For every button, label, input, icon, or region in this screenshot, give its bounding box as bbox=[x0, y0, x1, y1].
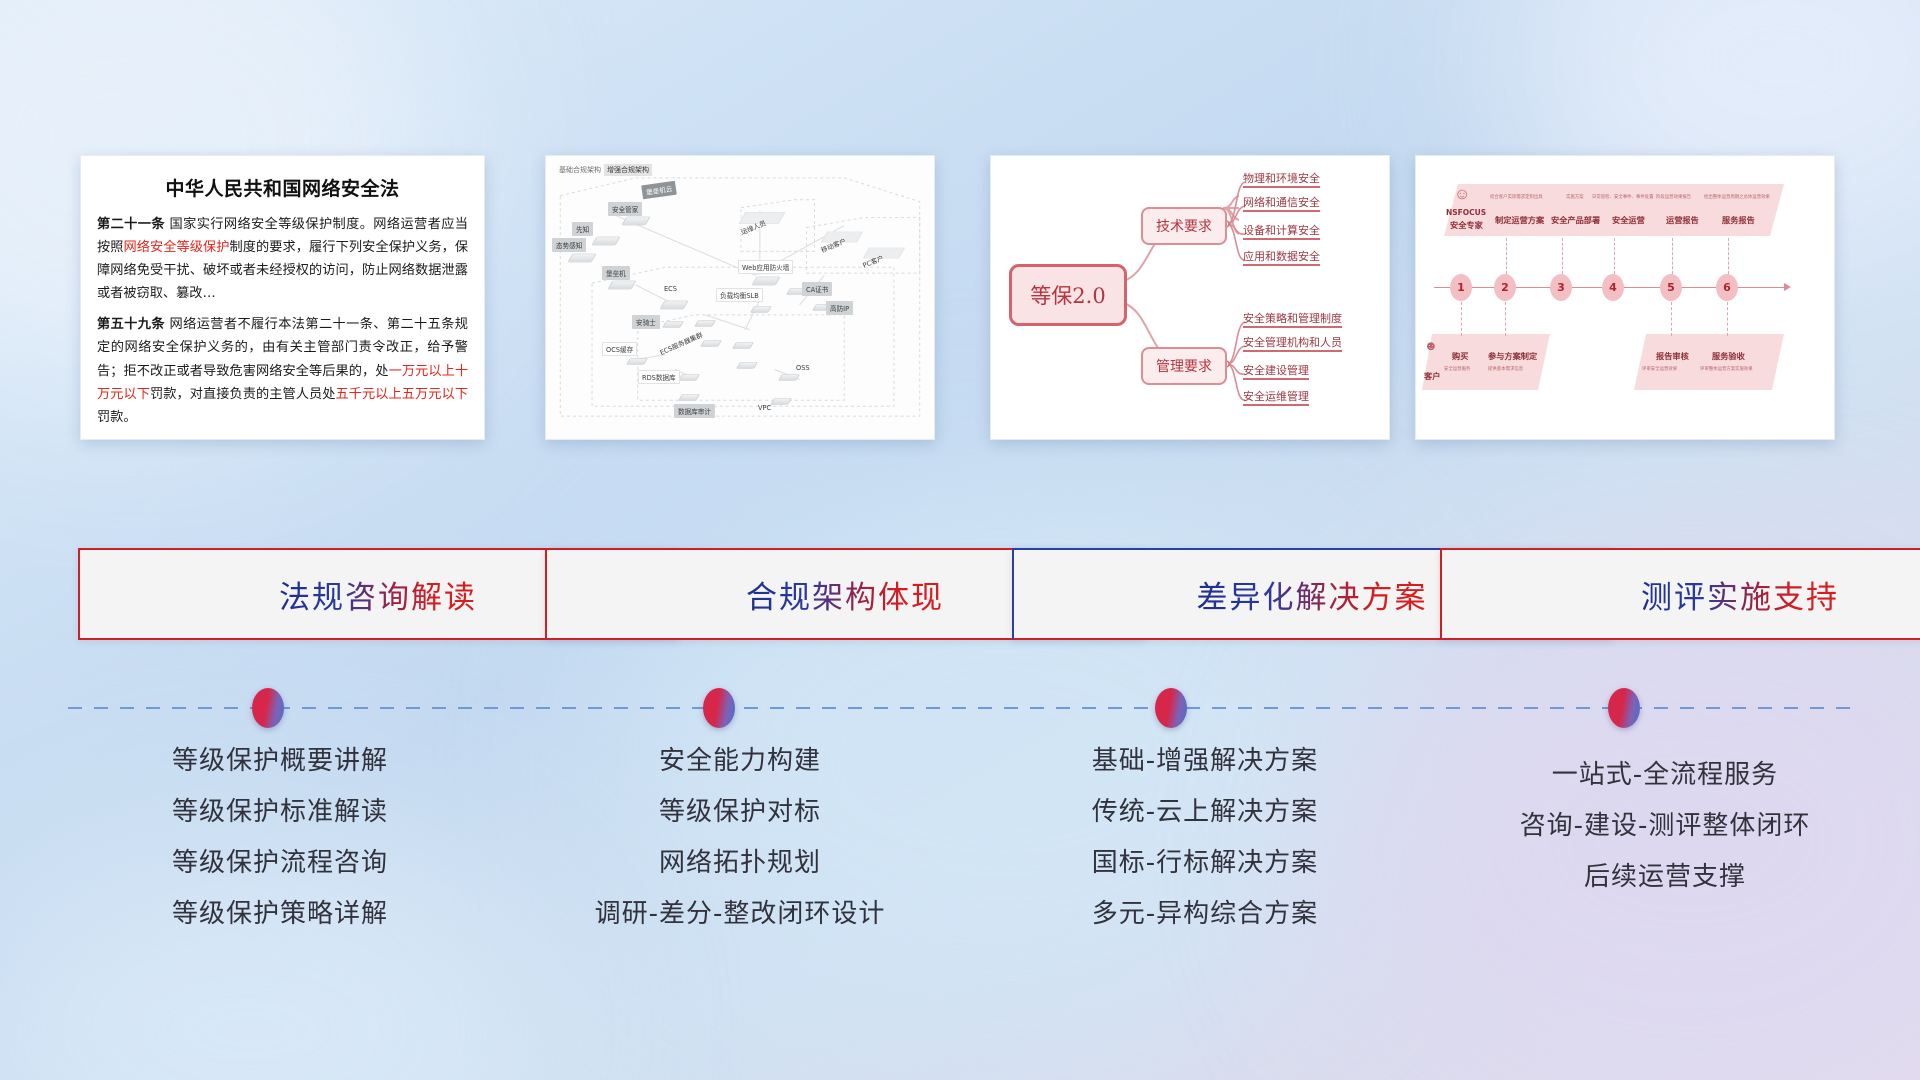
heading-label-1: 法规咨询解读 bbox=[279, 572, 477, 617]
mindmap-leaf-tech-4: 应用和数据安全 bbox=[1243, 248, 1320, 266]
timeline-step-node-6[interactable]: 6 bbox=[1716, 274, 1738, 301]
heading-label-2: 合规架构体现 bbox=[746, 572, 944, 617]
detail-column-4: 一站式-全流程服务 咨询-建设-测评整体闭环 后续运营支撑 bbox=[1415, 748, 1915, 915]
detail-column-2: 安全能力构建 等级保护对标 网络拓扑规划 调研-差分-整改闭环设计 bbox=[500, 748, 980, 952]
customer-step-1-sub: 安全运营服务 bbox=[1444, 366, 1470, 372]
timeline-canvas: ☺ NSFOCUS 安全专家 结合客户实际需求定制出具 制定运营方案 实施方案 … bbox=[1416, 156, 1834, 439]
mindmap-leaf-tech-1: 物理和环境安全 bbox=[1243, 170, 1320, 188]
node-ca-cert: CA证书 bbox=[802, 282, 832, 296]
progress-dot-3[interactable] bbox=[1155, 688, 1187, 728]
node-bastion-host: 堡垒机 bbox=[602, 266, 630, 280]
detail-column-1: 等级保护概要讲解 等级保护标准解读 等级保护流程咨询 等级保护策略详解 bbox=[40, 748, 520, 952]
law-article-59: 第五十九条 网络运营者不履行本法第二十一条、第二十五条规定的网络安全保护义务的，… bbox=[97, 313, 468, 428]
heading-label-4: 测评实施支持 bbox=[1641, 572, 1839, 617]
node-rds: RDS数据库 bbox=[638, 370, 680, 384]
detail-item: 等级保护概要讲解 bbox=[40, 748, 520, 774]
detail-item: 后续运营支撑 bbox=[1415, 864, 1915, 890]
card-service-timeline[interactable]: ☺ NSFOCUS 安全专家 结合客户实际需求定制出具 制定运营方案 实施方案 … bbox=[1415, 155, 1835, 440]
node-anti-ddos: 高防IP bbox=[826, 301, 853, 315]
card-mindmap[interactable]: 等保2.0 技术要求 管理要求 物理和环境安全 网络和通信安全 设备和计算安全 … bbox=[990, 155, 1390, 440]
step-6-title: 服务报告 bbox=[1722, 214, 1755, 226]
step-2-title: 制定运营方案 bbox=[1495, 214, 1544, 226]
timeline-connector-2-bottom bbox=[1505, 302, 1506, 336]
timeline-arrow-head-icon bbox=[1784, 283, 1791, 291]
mindmap-canvas: 等保2.0 技术要求 管理要求 物理和环境安全 网络和通信安全 设备和计算安全 … bbox=[991, 156, 1389, 439]
timeline-connector-6-top bbox=[1728, 238, 1729, 274]
timeline-connector-5-bottom bbox=[1671, 302, 1672, 336]
progress-dot-2[interactable] bbox=[703, 688, 735, 728]
customer-role-label: 客户 bbox=[1424, 370, 1440, 382]
detail-item: 一站式-全流程服务 bbox=[1415, 762, 1915, 788]
mindmap-leaf-mgmt-1: 安全策略和管理制度 bbox=[1243, 310, 1342, 328]
detail-item: 等级保护对标 bbox=[500, 799, 980, 825]
timeline-step-node-3[interactable]: 3 bbox=[1550, 274, 1572, 301]
node-slb: 负载均衡SLB bbox=[716, 288, 763, 302]
step-2-sub: 结合客户实际需求定制出具 bbox=[1490, 194, 1543, 200]
node-waf: Web应用防火墙 bbox=[738, 260, 793, 274]
detail-item: 安全能力构建 bbox=[500, 748, 980, 774]
icon-xianzhi bbox=[591, 237, 620, 246]
detail-item: 网络拓扑规划 bbox=[500, 850, 980, 876]
detail-item: 调研-差分-整改闭环设计 bbox=[500, 901, 980, 927]
mindmap-leaf-mgmt-4: 安全运维管理 bbox=[1243, 388, 1309, 406]
timeline-customer-band-right bbox=[1634, 334, 1784, 390]
heading-box-evaluation-support[interactable]: 测评实施支持 bbox=[1440, 548, 1920, 640]
step-3-title: 安全产品部署 bbox=[1551, 214, 1600, 226]
timeline-step-node-5[interactable]: 5 bbox=[1660, 274, 1682, 301]
node-situational-awareness: 态势感知 bbox=[552, 238, 586, 252]
step-5-title: 运营报告 bbox=[1666, 214, 1699, 226]
law-article-59-highlight-2: 五千元以上五万元以下 bbox=[336, 387, 468, 402]
mindmap-leaf-tech-2: 网络和通信安全 bbox=[1243, 194, 1320, 212]
customer-step-1-title: 购买 bbox=[1452, 350, 1468, 362]
law-article-59-label: 第五十九条 bbox=[97, 317, 165, 332]
timeline-connector-5-top bbox=[1672, 238, 1673, 274]
timeline-connector-1-bottom bbox=[1461, 302, 1462, 336]
timeline-step-node-2[interactable]: 2 bbox=[1494, 274, 1516, 301]
step-3-sub: 实施方案 bbox=[1566, 194, 1584, 200]
progress-dot-4[interactable] bbox=[1608, 688, 1640, 728]
node-oss: OSS bbox=[796, 364, 810, 372]
customer-step-2-title: 参与方案制定 bbox=[1488, 350, 1537, 362]
mindmap-branch-management: 管理要求 bbox=[1141, 347, 1227, 385]
card-law-document[interactable]: 中华人民共和国网络安全法 第二十一条 国家实行网络安全等级保护制度。网络运营者应… bbox=[80, 155, 485, 440]
node-ocs-cache: OCS缓存 bbox=[602, 342, 637, 356]
preview-card-row: 中华人民共和国网络安全法 第二十一条 国家实行网络安全等级保护制度。网络运营者应… bbox=[0, 155, 1920, 445]
timeline-connector-3-top bbox=[1562, 238, 1563, 274]
customer-avatar-icon: ☻ bbox=[1424, 338, 1438, 353]
heading-row: 法规咨询解读 合规架构体现 差异化解决方案 测评实施支持 bbox=[0, 548, 1920, 644]
customer-step-4-title: 服务验收 bbox=[1712, 350, 1745, 362]
timeline-step-node-1[interactable]: 1 bbox=[1450, 274, 1472, 301]
icon-security-butler bbox=[621, 217, 650, 226]
mindmap-branch-technical: 技术要求 bbox=[1141, 207, 1227, 245]
detail-item: 等级保护标准解读 bbox=[40, 799, 520, 825]
law-article-59-text-b: 罚款，对直接负责的主管人员处 bbox=[150, 387, 336, 402]
expert-role-line2: 安全专家 bbox=[1450, 219, 1483, 231]
icon-threat-awareness bbox=[567, 254, 596, 263]
detail-item: 传统-云上解决方案 bbox=[955, 799, 1455, 825]
law-article-59-text-c: 罚款。 bbox=[97, 410, 137, 425]
step-5-sub: 阶段运营效果报告 bbox=[1656, 194, 1691, 200]
icon-waf bbox=[751, 277, 780, 286]
icon-ecs bbox=[659, 301, 688, 310]
node-xianzhi: 先知 bbox=[572, 222, 593, 236]
customer-step-3-title: 报告审核 bbox=[1656, 350, 1689, 362]
step-4-sub: 日常巡检、安全事件、事件处置 bbox=[1592, 194, 1653, 200]
mindmap-root: 等保2.0 bbox=[1009, 264, 1127, 326]
heading-label-3: 差异化解决方案 bbox=[1197, 572, 1428, 617]
customer-step-4-sub: 评审整体运营方案实施效果 bbox=[1700, 366, 1753, 372]
customer-step-3-sub: 评审安全运营效果 bbox=[1642, 366, 1677, 372]
timeline-step-node-4[interactable]: 4 bbox=[1602, 274, 1624, 301]
mindmap-leaf-tech-3: 设备和计算安全 bbox=[1243, 222, 1320, 240]
icon-bastion-host bbox=[607, 281, 636, 290]
timeline-connector-6-bottom bbox=[1727, 302, 1728, 336]
timeline-connector-2-top bbox=[1506, 238, 1507, 274]
detail-item: 基础-增强解决方案 bbox=[955, 748, 1455, 774]
card-architecture-diagram[interactable]: 基础合规架构增强合规架构 bbox=[545, 155, 935, 440]
node-db-audit: 数据库审计 bbox=[674, 404, 715, 418]
law-article-21-highlight: 网络安全等级保护 bbox=[124, 240, 230, 255]
customer-step-2-sub: 提供基本需求信息 bbox=[1488, 366, 1523, 372]
law-article-21: 第二十一条 国家实行网络安全等级保护制度。网络运营者应当按照网络安全等级保护制度… bbox=[97, 213, 468, 305]
step-4-title: 安全运营 bbox=[1612, 214, 1645, 226]
detail-item: 国标-行标解决方案 bbox=[955, 850, 1455, 876]
detail-column-3: 基础-增强解决方案 传统-云上解决方案 国标-行标解决方案 多元-异构综合方案 bbox=[955, 748, 1455, 952]
expert-role-line1: NSFOCUS bbox=[1446, 208, 1486, 217]
node-anqishi: 安骑士 bbox=[632, 315, 660, 329]
progress-dot-1[interactable] bbox=[252, 688, 284, 728]
expert-avatar-icon: ☺ bbox=[1454, 186, 1470, 204]
timeline-connector-4-top bbox=[1614, 238, 1615, 274]
mindmap-leaf-mgmt-3: 安全建设管理 bbox=[1243, 362, 1309, 380]
node-vpc: VPC bbox=[758, 404, 771, 412]
law-article-21-label: 第二十一条 bbox=[97, 217, 165, 232]
law-title: 中华人民共和国网络安全法 bbox=[97, 174, 468, 201]
detail-item: 多元-异构综合方案 bbox=[955, 901, 1455, 927]
detail-item: 等级保护策略详解 bbox=[40, 901, 520, 927]
progress-dashed-line bbox=[68, 707, 1858, 709]
detail-item: 等级保护流程咨询 bbox=[40, 850, 520, 876]
step-6-sub: 给出整体运营周期之总体运营效果 bbox=[1704, 194, 1770, 200]
node-ecs: ECS bbox=[664, 285, 677, 293]
node-security-butler: 安全管家 bbox=[608, 202, 642, 216]
architecture-canvas: 基础合规架构增强合规架构 bbox=[546, 156, 934, 439]
detail-item: 咨询-建设-测评整体闭环 bbox=[1415, 813, 1915, 839]
timeline-customer-band-left bbox=[1422, 334, 1550, 390]
mindmap-leaf-mgmt-2: 安全管理机构和人员 bbox=[1243, 334, 1342, 352]
timeline-expert-band bbox=[1444, 184, 1784, 236]
